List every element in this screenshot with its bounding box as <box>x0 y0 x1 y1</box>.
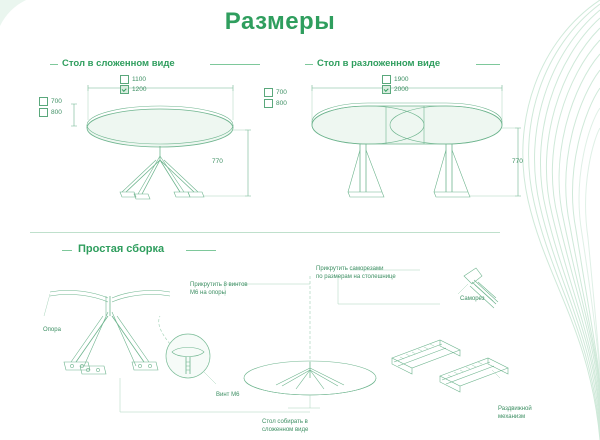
label-screw-support: Прикрутить 8 винтов М6 на опоры <box>190 281 248 297</box>
folded-depth-option-0[interactable]: 700 <box>39 97 62 106</box>
unfolded-header-rule-left <box>305 64 313 65</box>
label-mechanism: Раздвижной механизм <box>498 405 532 421</box>
folded-header-rule-right <box>210 64 260 65</box>
checkbox-checked-icon[interactable] <box>120 85 129 94</box>
checkbox-icon[interactable] <box>264 88 273 97</box>
checkbox-checked-icon[interactable] <box>382 85 391 94</box>
folded-width-option-0[interactable]: 1100 <box>120 75 146 84</box>
label-opora: Опора <box>43 327 61 333</box>
folded-height-value: 770 <box>212 158 223 165</box>
unfolded-depth-option-0[interactable]: 700 <box>264 88 287 97</box>
unfolded-section-header: Стол в разложенном виде <box>317 58 440 69</box>
checkbox-icon[interactable] <box>120 75 129 84</box>
folded-section-header: Стол в сложенном виде <box>62 58 175 69</box>
assembly-header-rule-left <box>62 250 72 251</box>
label-assemble-note: Стол собирать в сложенном виде <box>262 418 308 434</box>
folded-table-drawing <box>48 74 268 209</box>
checkbox-icon[interactable] <box>39 97 48 106</box>
unfolded-width-option-0[interactable]: 1900 <box>382 75 408 84</box>
assembly-header-rule-right <box>186 250 216 251</box>
label-vint: Винт М6 <box>216 392 239 398</box>
page-root: Размеры Стол в сложенном виде Стол в раз… <box>0 0 600 440</box>
folded-width-option-1[interactable]: 1200 <box>120 85 146 94</box>
page-title: Размеры <box>0 8 560 36</box>
unfolded-header-rule-right <box>476 64 500 65</box>
assembly-section-header: Простая сборка <box>78 243 164 255</box>
unfolded-height-value: 770 <box>512 158 523 165</box>
section-divider <box>30 232 500 233</box>
unfolded-width-option-1[interactable]: 2000 <box>382 85 408 94</box>
unfolded-depth-option-1[interactable]: 800 <box>264 99 287 108</box>
folded-depth-option-1[interactable]: 800 <box>39 108 62 117</box>
checkbox-icon[interactable] <box>264 99 273 108</box>
checkbox-icon[interactable] <box>382 75 391 84</box>
label-screw-top: Прикрутить саморезами по размерам на сто… <box>316 265 396 281</box>
checkbox-icon[interactable] <box>39 108 48 117</box>
label-samorez: Саморез <box>460 296 485 302</box>
assembly-diagram <box>20 258 510 436</box>
unfolded-table-drawing <box>296 74 536 209</box>
folded-header-rule-left <box>50 64 58 65</box>
